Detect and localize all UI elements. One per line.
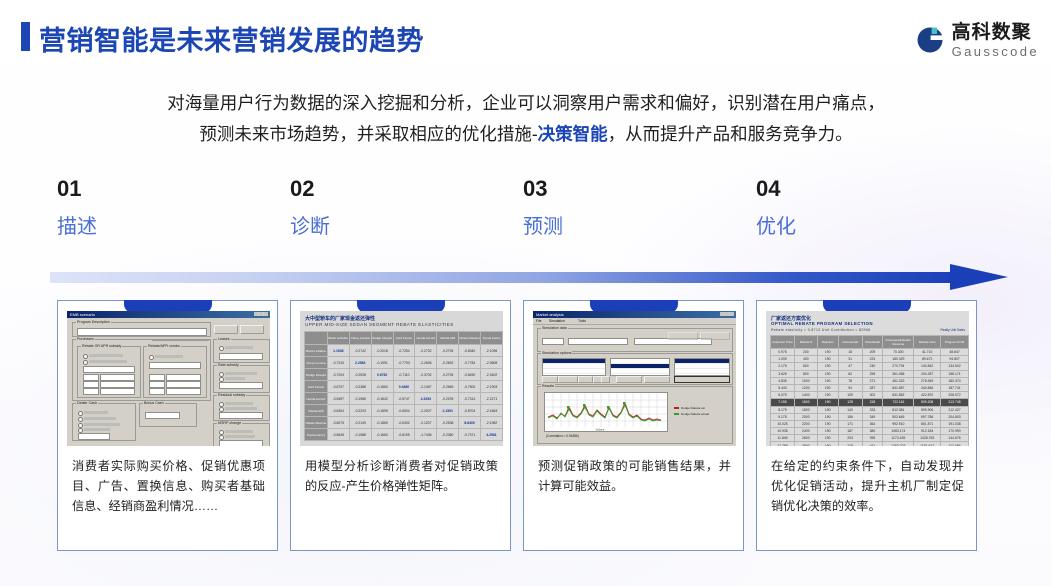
- slide-header: 营销智能是未来营销发展的趋势 高科数聚 Gausscode: [0, 0, 1051, 70]
- card-02-diagnose[interactable]: 大中型轿车的厂家现金返还弹性 UPPER MID-SIZE SEDAN SEGM…: [290, 300, 511, 551]
- svg-text:Volume: Volume: [596, 428, 605, 432]
- dialog-title: EMB scenario: [70, 312, 95, 317]
- paragraph-line-2: 预测未来市场趋势，并采取相应的优化措施-决策智能，从而提升产品和服务竞争力。: [46, 119, 1006, 150]
- card-04-optimize[interactable]: 厂家返还方案优化 OPTIMAL REBATE PROGRAM SELECTIO…: [756, 300, 977, 551]
- legend-item-est: Dodge Dakota est: [674, 406, 709, 410]
- card-screenshot-simulation: Market analysis File Simulation Tools Si…: [533, 311, 736, 446]
- logo-text-en: Gausscode: [952, 45, 1039, 58]
- step-04: 04 优化: [756, 176, 956, 240]
- progress-arrow: [50, 264, 1008, 290]
- title-accent-bar: [21, 22, 30, 51]
- step-number: 03: [523, 176, 723, 202]
- step-03: 03 预测: [523, 176, 723, 240]
- card-03-predict[interactable]: Market analysis File Simulation Tools Si…: [523, 300, 744, 551]
- card-caption: 预测促销政策的可能销售结果，并计算可能效益。: [538, 456, 731, 496]
- rebate-title-en: OPTIMAL REBATE PROGRAM SELECTION: [771, 321, 873, 326]
- step-list: 01 描述 02 诊断 03 预测 04 优化: [0, 176, 1051, 246]
- menu-file[interactable]: File: [536, 319, 541, 323]
- menu-simulation[interactable]: Simulation: [549, 319, 565, 323]
- step-number: 04: [756, 176, 956, 202]
- step-label: 预测: [523, 214, 723, 240]
- paragraph-line-1: 对海量用户行为数据的深入挖掘和分析，企业可以洞察用户需求和偏好，识别潜在用户痛点…: [46, 88, 1006, 119]
- correlation-footnote: (Correlation = 0.94386): [546, 434, 579, 438]
- paragraph-line-2b: ，从而提升产品和服务竞争力。: [608, 124, 853, 144]
- simulation-window-title: Market analysis: [536, 312, 564, 317]
- arrow-head-icon: [950, 264, 1008, 290]
- card-screenshot-optimal-rebate: 厂家返还方案优化 OPTIMAL REBATE PROGRAM SELECTIO…: [766, 311, 969, 446]
- slide-root: 营销智能是未来营销发展的趋势 高科数聚 Gausscode 对海量用户行为数据的…: [0, 0, 1051, 586]
- menu-tools[interactable]: Tools: [578, 319, 586, 323]
- legend-item-actual: Dodge Dakota actual: [674, 412, 709, 416]
- step-02: 02 诊断: [290, 176, 490, 240]
- card-caption: 在给定的约束条件下，自动发现并优化促销活动，提升主机厂制定促销优化决策的效率。: [771, 456, 964, 516]
- step-number: 02: [290, 176, 490, 202]
- gausscode-logo-icon: [915, 25, 945, 55]
- paragraph-line-2a: 预测未来市场趋势，并采取相应的优化措施-: [199, 124, 537, 144]
- rebate-subtitle: Rebate elasticity = 0.8712 Unit Contribu…: [771, 328, 870, 332]
- page-title: 营销智能是未来营销发展的趋势: [39, 19, 424, 58]
- matrix-title-cn: 大中型轿车的厂家现金返还弹性: [305, 315, 375, 322]
- intro-paragraph: 对海量用户行为数据的深入挖掘和分析，企业可以洞察用户需求和偏好，识别潜在用户痛点…: [46, 88, 1006, 150]
- card-caption: 消费者实际购买价格、促销优惠项目、广告、置换信息、购买者基础信息、经销商盈利情况…: [72, 456, 265, 516]
- paragraph-highlight: 决策智能: [538, 124, 608, 144]
- step-label: 描述: [57, 214, 257, 240]
- card-screenshot-elasticity-matrix: 大中型轿车的厂家现金返还弹性 UPPER MID-SIZE SEDAN SEGM…: [300, 311, 503, 446]
- card-01-describe[interactable]: EMB scenario Program Description Purchas…: [57, 300, 278, 551]
- step-label: 诊断: [290, 214, 490, 240]
- logo-text-cn: 高科数聚: [952, 23, 1039, 42]
- brand-logo: 高科数聚 Gausscode: [915, 18, 1039, 62]
- matrix-title-en: UPPER MID-SIZE SEDAN SEGMENT REBATE ELAS…: [305, 322, 454, 327]
- step-01: 01 描述: [57, 176, 257, 240]
- step-number: 01: [57, 176, 257, 202]
- optimal-rebate-table: Customer PriceRebate $ReactionIncrementa…: [770, 335, 969, 446]
- step-label: 优化: [756, 214, 956, 240]
- card-caption: 用模型分析诊断消费者对促销政策的反应-产生价格弹性矩阵。: [305, 456, 498, 496]
- elasticity-matrix-table: Buick LeSabreChevy LuminaDodge IntrepidF…: [304, 331, 503, 441]
- rebate-corner-note: Realty Unit Sales: [941, 328, 965, 332]
- card-screenshot-dialog: EMB scenario Program Description Purchas…: [67, 311, 270, 446]
- arrow-shaft: [50, 272, 958, 283]
